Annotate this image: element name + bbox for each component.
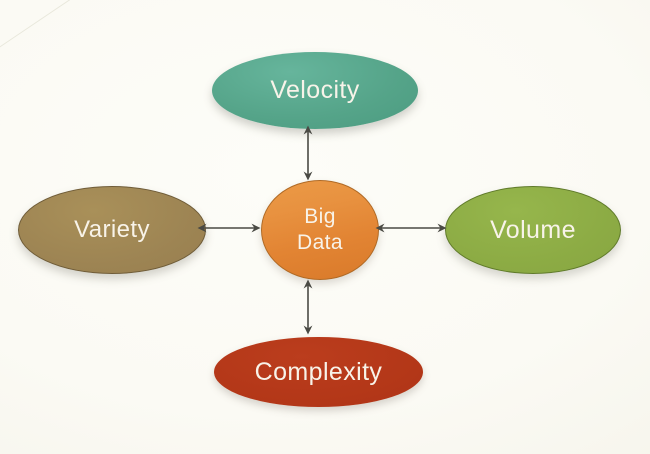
node-velocity: Velocity: [212, 52, 418, 129]
node-volume: Volume: [445, 186, 621, 274]
node-big-data-line2: Data: [297, 231, 343, 254]
node-big-data: Big Data: [261, 180, 379, 280]
node-variety: Variety: [18, 186, 206, 274]
diagram-canvas: Velocity Variety Volume Complexity Big D…: [0, 0, 650, 454]
connector-center-to-variety: [196, 222, 262, 234]
node-variety-label: Variety: [74, 217, 150, 243]
node-velocity-label: Velocity: [270, 77, 359, 104]
node-volume-label: Volume: [490, 217, 576, 244]
connector-center-to-volume: [374, 222, 448, 234]
node-big-data-label: Big Data: [297, 204, 343, 255]
node-complexity: Complexity: [214, 337, 423, 407]
node-complexity-label: Complexity: [255, 359, 383, 386]
node-big-data-line1: Big: [304, 205, 336, 228]
connector-center-to-complexity: [302, 278, 314, 336]
connector-center-to-velocity: [302, 124, 314, 182]
